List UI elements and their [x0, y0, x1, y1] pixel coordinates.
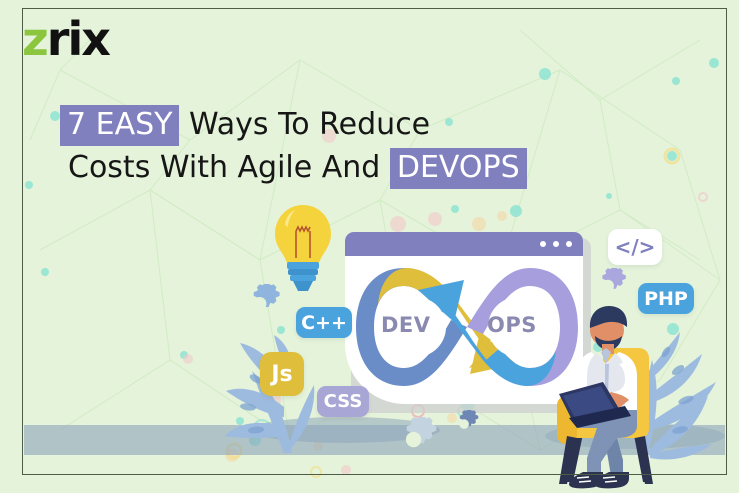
zrix-logo[interactable]: zrix	[22, 16, 109, 62]
badge-php[interactable]: PHP	[638, 283, 694, 314]
badge-cpp[interactable]: C++	[296, 307, 352, 338]
badge-css[interactable]: CSS	[317, 386, 369, 417]
headline-highlight-easy: 7 EASY	[60, 105, 179, 146]
window-dot-2	[553, 241, 559, 247]
window-dot-1	[540, 241, 546, 247]
logo-letters-rix: rix	[47, 12, 109, 66]
person-with-laptop-illustration	[545, 300, 690, 493]
gear-icon-floor-small	[450, 410, 480, 445]
infinity-label-ops: OPS	[487, 313, 537, 337]
headline-line-1-rest: Ways To Reduce	[189, 107, 430, 142]
headline-highlight-devops: DEVOPS	[390, 148, 527, 189]
headline-line-2: Costs With Agile And DEVOPS	[60, 147, 680, 190]
logo-letter-z: z	[22, 12, 47, 66]
banner-canvas: zrix 7 EASY Ways To Reduce Costs With Ag…	[0, 0, 739, 493]
window-dot-3	[566, 241, 572, 247]
badge-code-tag[interactable]: </>	[608, 229, 662, 265]
browser-titlebar	[345, 232, 583, 256]
gear-icon-floor-large	[391, 417, 439, 470]
badge-js[interactable]: Js	[260, 352, 304, 396]
headline: 7 EASY Ways To Reduce Costs With Agile A…	[60, 104, 680, 189]
headline-line-1: 7 EASY Ways To Reduce	[60, 104, 680, 147]
browser-window-dots[interactable]	[540, 241, 572, 247]
infinity-label-dev: DEV	[381, 313, 431, 337]
headline-line-2-rest: Costs With Agile And	[68, 150, 380, 185]
lightbulb-icon	[272, 203, 334, 300]
